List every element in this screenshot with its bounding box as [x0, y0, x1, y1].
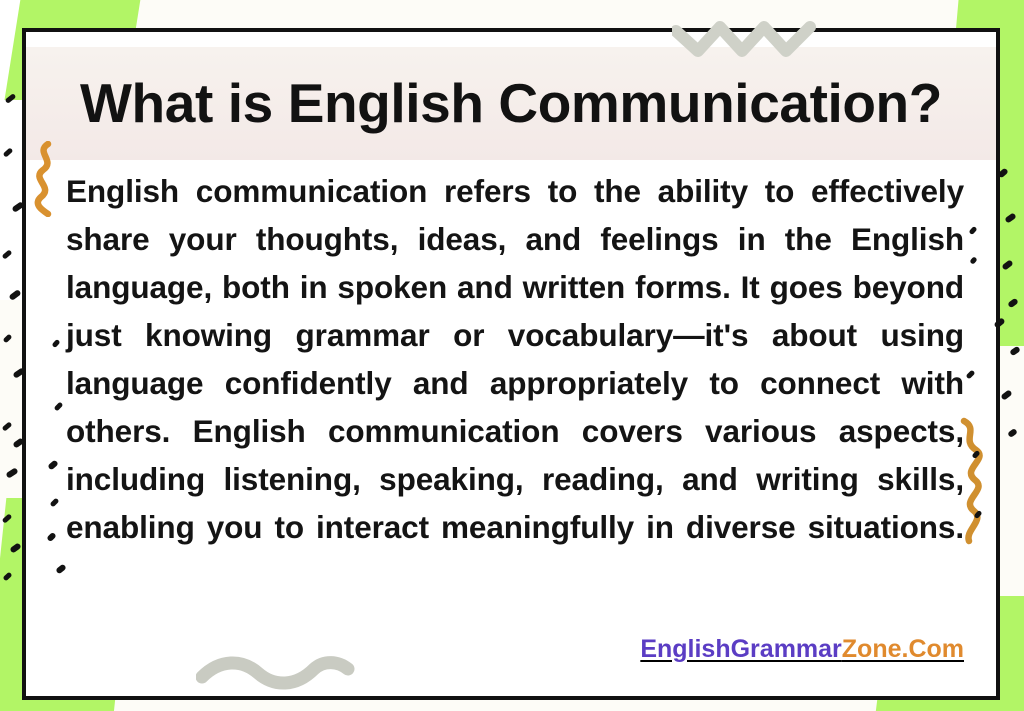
infographic-canvas: What is English Communication? English c… [0, 0, 1024, 711]
content-card: What is English Communication? English c… [26, 32, 996, 696]
dash-confetti [12, 437, 24, 448]
body-paragraph-container: English communication refers to the abil… [66, 167, 964, 599]
gray-wave-ribbon-icon-bottom [196, 655, 356, 691]
orange-squiggle-icon-left [28, 141, 62, 217]
dash-confetti [5, 467, 18, 479]
body-paragraph: English communication refers to the abil… [66, 167, 964, 599]
dash-confetti [1007, 428, 1018, 438]
site-watermark[interactable]: EnglishGrammarZone.Com [640, 635, 964, 664]
dash-confetti [2, 421, 13, 431]
dash-confetti [3, 334, 13, 344]
page-title: What is English Communication? [26, 75, 996, 133]
watermark-primary: EnglishGrammar [640, 635, 841, 663]
orange-squiggle-icon-right [955, 417, 989, 545]
title-band: What is English Communication? [26, 47, 996, 160]
dash-confetti [12, 367, 25, 379]
dash-confetti [1009, 346, 1021, 357]
watermark-accent: Zone.Com [842, 635, 964, 663]
dash-confetti [1000, 389, 1012, 401]
gray-wave-ribbon-icon-top [672, 13, 824, 57]
